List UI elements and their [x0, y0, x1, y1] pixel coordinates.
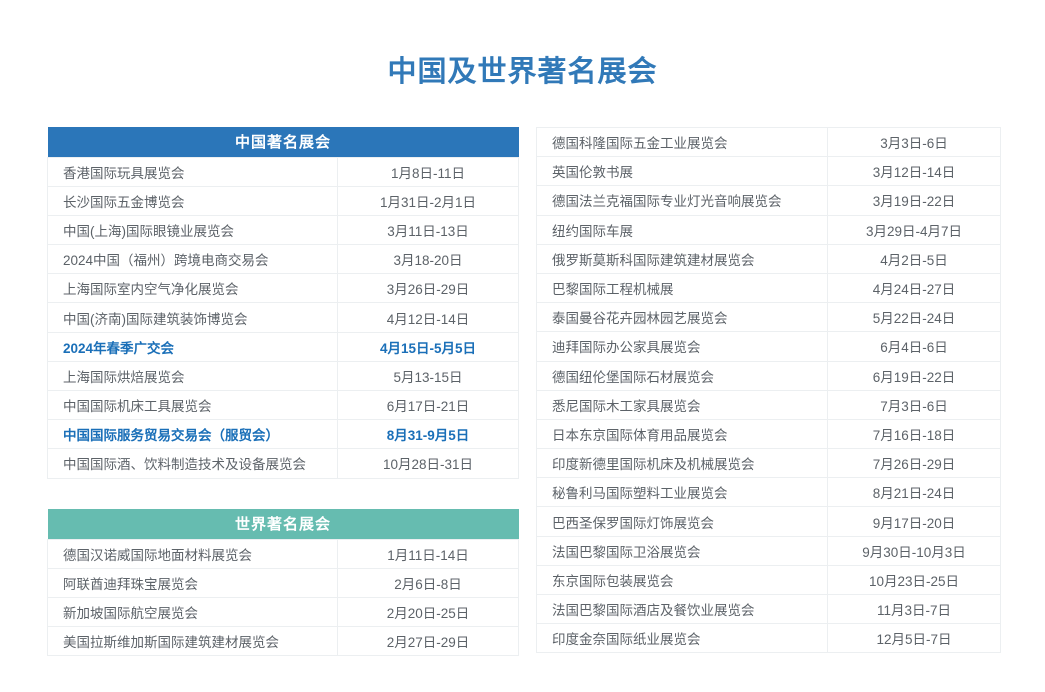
table-row[interactable]: 纽约国际车展3月29日-4月7日 [537, 215, 1001, 244]
exhibition-date-cell: 6月19日-22日 [828, 361, 1001, 390]
exhibition-name-cell: 德国汉诺威国际地面材料展览会 [48, 539, 338, 568]
exhibition-date-cell: 10月23日-25日 [828, 565, 1001, 594]
exhibition-date-cell: 3月11日-13日 [338, 215, 519, 244]
exhibition-name-cell: 上海国际室内空气净化展览会 [48, 274, 338, 303]
world-exhibitions-continued-table: 德国科隆国际五金工业展览会3月3日-6日英国伦敦书展3月12日-14日德国法兰克… [536, 127, 1001, 653]
exhibition-name-cell: 日本东京国际体育用品展览会 [537, 419, 828, 448]
table-header-row: 中国著名展会 [48, 127, 519, 157]
exhibition-date-cell: 4月24日-27日 [828, 273, 1001, 302]
page-title: 中国及世界著名展会 [0, 52, 1045, 92]
exhibition-date-cell: 12月5日-7日 [828, 624, 1001, 653]
exhibition-name-cell: 香港国际玩具展览会 [48, 157, 338, 186]
exhibition-date-cell: 3月18-20日 [338, 245, 519, 274]
exhibition-name-cell: 长沙国际五金博览会 [48, 186, 338, 215]
exhibition-date-cell: 2月6日-8日 [338, 568, 519, 597]
world-exhibitions-table: 世界著名展会 德国汉诺威国际地面材料展览会1月11日-14日阿联酋迪拜珠宝展览会… [47, 509, 519, 656]
exhibition-date-cell: 9月30日-10月3日 [828, 536, 1001, 565]
table-row[interactable]: 2024中国（福州）跨境电商交易会3月18-20日 [48, 245, 519, 274]
exhibition-name-cell: 中国国际机床工具展览会 [48, 391, 338, 420]
exhibition-name-cell: 秘鲁利马国际塑料工业展览会 [537, 478, 828, 507]
table-row[interactable]: 中国(上海)国际眼镜业展览会3月11日-13日 [48, 215, 519, 244]
table-row[interactable]: 俄罗斯莫斯科国际建筑建材展览会4月2日-5日 [537, 244, 1001, 273]
table-row[interactable]: 中国国际酒、饮料制造技术及设备展览会10月28日-31日 [48, 449, 519, 478]
table-row[interactable]: 香港国际玩具展览会1月8日-11日 [48, 157, 519, 186]
table-row[interactable]: 上海国际室内空气净化展览会3月26日-29日 [48, 274, 519, 303]
exhibition-name-cell: 美国拉斯维加斯国际建筑建材展览会 [48, 627, 338, 656]
world-table-body: 德国汉诺威国际地面材料展览会1月11日-14日阿联酋迪拜珠宝展览会2月6日-8日… [48, 539, 519, 656]
world-table-header: 世界著名展会 [48, 509, 519, 539]
exhibition-date-cell: 10月28日-31日 [338, 449, 519, 478]
table-row[interactable]: 中国国际服务贸易交易会（服贸会）8月31-9月5日 [48, 420, 519, 449]
exhibition-name-cell: 2024中国（福州）跨境电商交易会 [48, 245, 338, 274]
table-row[interactable]: 东京国际包装展览会10月23日-25日 [537, 565, 1001, 594]
table-row[interactable]: 德国纽伦堡国际石材展览会6月19日-22日 [537, 361, 1001, 390]
exhibition-name-cell: 德国法兰克福国际专业灯光音响展览会 [537, 186, 828, 215]
exhibition-date-cell: 1月31日-2月1日 [338, 186, 519, 215]
exhibition-date-cell: 5月13-15日 [338, 361, 519, 390]
table-row[interactable]: 泰国曼谷花卉园林园艺展览会5月22日-24日 [537, 303, 1001, 332]
exhibition-name-cell: 印度金奈国际纸业展览会 [537, 624, 828, 653]
exhibition-date-cell: 7月16日-18日 [828, 419, 1001, 448]
table-row[interactable]: 巴黎国际工程机械展4月24日-27日 [537, 273, 1001, 302]
china-exhibitions-table: 中国著名展会 香港国际玩具展览会1月8日-11日长沙国际五金博览会1月31日-2… [47, 127, 519, 479]
table-row[interactable]: 2024年春季广交会4月15日-5月5日 [48, 332, 519, 361]
exhibition-schedule-page: 中国及世界著名展会 中国著名展会 香港国际玩具展览会1月8日-11日长沙国际五金… [0, 0, 1045, 692]
exhibition-date-cell: 3月3日-6日 [828, 128, 1001, 157]
table-row[interactable]: 英国伦敦书展3月12日-14日 [537, 157, 1001, 186]
table-row[interactable]: 悉尼国际木工家具展览会7月3日-6日 [537, 390, 1001, 419]
exhibition-name-cell: 法国巴黎国际卫浴展览会 [537, 536, 828, 565]
exhibition-name-cell: 英国伦敦书展 [537, 157, 828, 186]
exhibition-date-cell: 8月31-9月5日 [338, 420, 519, 449]
table-row[interactable]: 印度新德里国际机床及机械展览会7月26日-29日 [537, 449, 1001, 478]
exhibition-date-cell: 6月17日-21日 [338, 391, 519, 420]
table-row[interactable]: 上海国际烘焙展览会5月13-15日 [48, 361, 519, 390]
table-row[interactable]: 德国科隆国际五金工业展览会3月3日-6日 [537, 128, 1001, 157]
exhibition-date-cell: 4月12日-14日 [338, 303, 519, 332]
exhibition-date-cell: 2月27日-29日 [338, 627, 519, 656]
exhibition-name-cell: 中国(上海)国际眼镜业展览会 [48, 215, 338, 244]
table-row[interactable]: 秘鲁利马国际塑料工业展览会8月21日-24日 [537, 478, 1001, 507]
table-row[interactable]: 中国(济南)国际建筑装饰博览会4月12日-14日 [48, 303, 519, 332]
table-row[interactable]: 中国国际机床工具展览会6月17日-21日 [48, 391, 519, 420]
exhibition-name-cell: 印度新德里国际机床及机械展览会 [537, 449, 828, 478]
exhibition-date-cell: 4月15日-5月5日 [338, 332, 519, 361]
world-continued-table-body: 德国科隆国际五金工业展览会3月3日-6日英国伦敦书展3月12日-14日德国法兰克… [537, 128, 1001, 653]
exhibition-name-cell: 泰国曼谷花卉园林园艺展览会 [537, 303, 828, 332]
exhibition-name-cell: 中国国际酒、饮料制造技术及设备展览会 [48, 449, 338, 478]
exhibition-name-cell: 阿联酋迪拜珠宝展览会 [48, 568, 338, 597]
table-row[interactable]: 德国汉诺威国际地面材料展览会1月11日-14日 [48, 539, 519, 568]
exhibition-date-cell: 5月22日-24日 [828, 303, 1001, 332]
exhibition-date-cell: 11月3日-7日 [828, 595, 1001, 624]
exhibition-name-cell: 上海国际烘焙展览会 [48, 361, 338, 390]
table-row[interactable]: 迪拜国际办公家具展览会6月4日-6日 [537, 332, 1001, 361]
table-row[interactable]: 美国拉斯维加斯国际建筑建材展览会2月27日-29日 [48, 627, 519, 656]
exhibition-date-cell: 2月20日-25日 [338, 597, 519, 626]
table-row[interactable]: 日本东京国际体育用品展览会7月16日-18日 [537, 419, 1001, 448]
exhibition-date-cell: 3月19日-22日 [828, 186, 1001, 215]
table-row[interactable]: 长沙国际五金博览会1月31日-2月1日 [48, 186, 519, 215]
table-header-row: 世界著名展会 [48, 509, 519, 539]
table-row[interactable]: 印度金奈国际纸业展览会12月5日-7日 [537, 624, 1001, 653]
exhibition-date-cell: 4月2日-5日 [828, 244, 1001, 273]
exhibition-date-cell: 3月26日-29日 [338, 274, 519, 303]
table-row[interactable]: 阿联酋迪拜珠宝展览会2月6日-8日 [48, 568, 519, 597]
exhibition-name-cell: 俄罗斯莫斯科国际建筑建材展览会 [537, 244, 828, 273]
exhibition-name-cell: 法国巴黎国际酒店及餐饮业展览会 [537, 595, 828, 624]
table-row[interactable]: 法国巴黎国际卫浴展览会9月30日-10月3日 [537, 536, 1001, 565]
exhibition-date-cell: 3月29日-4月7日 [828, 215, 1001, 244]
exhibition-name-cell: 迪拜国际办公家具展览会 [537, 332, 828, 361]
exhibition-name-cell: 新加坡国际航空展览会 [48, 597, 338, 626]
table-row[interactable]: 新加坡国际航空展览会2月20日-25日 [48, 597, 519, 626]
exhibition-name-cell: 德国纽伦堡国际石材展览会 [537, 361, 828, 390]
exhibition-name-cell: 中国国际服务贸易交易会（服贸会） [48, 420, 338, 449]
exhibition-date-cell: 1月11日-14日 [338, 539, 519, 568]
exhibition-name-cell: 2024年春季广交会 [48, 332, 338, 361]
exhibition-name-cell: 中国(济南)国际建筑装饰博览会 [48, 303, 338, 332]
exhibition-date-cell: 9月17日-20日 [828, 507, 1001, 536]
table-row[interactable]: 巴西圣保罗国际灯饰展览会9月17日-20日 [537, 507, 1001, 536]
exhibition-name-cell: 悉尼国际木工家具展览会 [537, 390, 828, 419]
exhibition-name-cell: 东京国际包装展览会 [537, 565, 828, 594]
table-row[interactable]: 德国法兰克福国际专业灯光音响展览会3月19日-22日 [537, 186, 1001, 215]
exhibition-date-cell: 8月21日-24日 [828, 478, 1001, 507]
exhibition-date-cell: 3月12日-14日 [828, 157, 1001, 186]
table-row[interactable]: 法国巴黎国际酒店及餐饮业展览会11月3日-7日 [537, 595, 1001, 624]
exhibition-name-cell: 德国科隆国际五金工业展览会 [537, 128, 828, 157]
china-table-body: 香港国际玩具展览会1月8日-11日长沙国际五金博览会1月31日-2月1日中国(上… [48, 157, 519, 478]
exhibition-name-cell: 巴黎国际工程机械展 [537, 273, 828, 302]
china-table-header: 中国著名展会 [48, 127, 519, 157]
exhibition-date-cell: 6月4日-6日 [828, 332, 1001, 361]
exhibition-date-cell: 1月8日-11日 [338, 157, 519, 186]
exhibition-date-cell: 7月3日-6日 [828, 390, 1001, 419]
exhibition-date-cell: 7月26日-29日 [828, 449, 1001, 478]
exhibition-name-cell: 纽约国际车展 [537, 215, 828, 244]
exhibition-name-cell: 巴西圣保罗国际灯饰展览会 [537, 507, 828, 536]
